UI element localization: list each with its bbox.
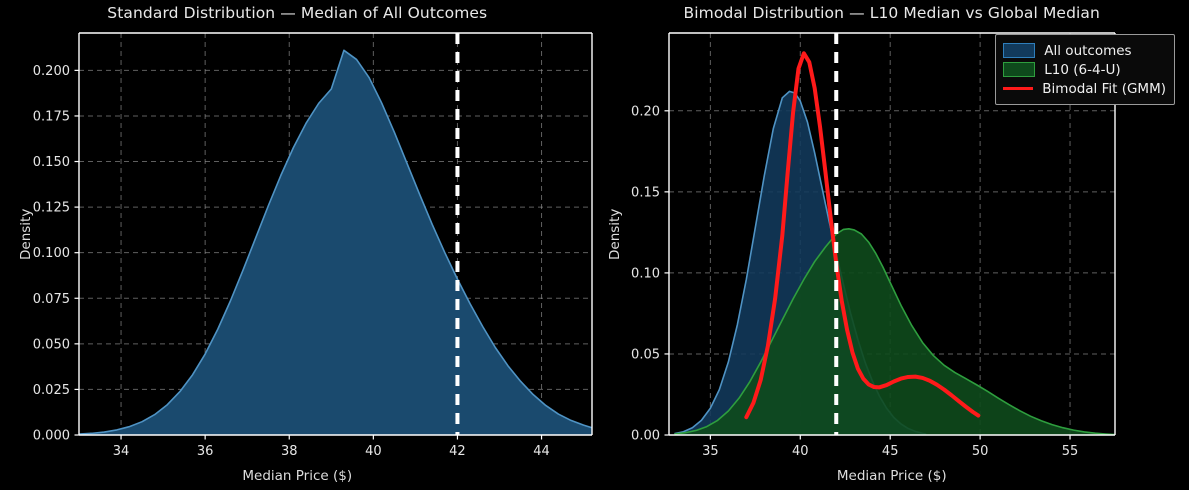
figure-canvas: Standard Distribution — Median of All Ou… <box>0 0 1189 490</box>
legend-item-all-outcomes[interactable]: All outcomes <box>1003 41 1166 60</box>
x-tick-label: 40 <box>365 444 382 459</box>
y-tick-label: 0.150 <box>33 155 70 170</box>
x-tick-label: 42 <box>449 444 466 459</box>
y-tick-label: 0.025 <box>33 383 70 398</box>
y-tick-label: 0.075 <box>33 292 70 307</box>
y-tick-label: 0.100 <box>33 246 70 261</box>
legend-label: Bimodal Fit (GMM) <box>1042 81 1166 97</box>
legend-label: All outcomes <box>1044 43 1131 59</box>
x-tick-label: 40 <box>792 444 809 459</box>
legend-line-icon <box>1003 87 1033 90</box>
legend-swatch-icon <box>1003 62 1035 77</box>
y-tick-label: 0.20 <box>631 104 660 119</box>
y-axis-label-left: Density <box>18 208 34 259</box>
legend-item-bimodal-fit-gmm[interactable]: Bimodal Fit (GMM) <box>1003 79 1166 98</box>
x-axis-label-right: Median Price ($) <box>595 468 1189 484</box>
x-tick-label: 34 <box>113 444 130 459</box>
y-tick-label: 0.175 <box>33 109 70 124</box>
panel-left: Standard Distribution — Median of All Ou… <box>0 0 595 490</box>
x-tick-label: 36 <box>197 444 214 459</box>
x-tick-label: 45 <box>881 444 898 459</box>
y-tick-label: 0.050 <box>33 337 70 352</box>
x-tick-label: 35 <box>702 444 719 459</box>
legend[interactable]: All outcomesL10 (6-4-U)Bimodal Fit (GMM) <box>995 34 1175 105</box>
plot-area-left: 3436384042440.0000.0250.0500.0750.1000.1… <box>0 0 595 490</box>
panel-right: Bimodal Distribution — L10 Median vs Glo… <box>595 0 1189 490</box>
y-tick-label: 0.05 <box>631 347 660 362</box>
x-tick-label: 38 <box>281 444 298 459</box>
y-tick-label: 0.10 <box>631 266 660 281</box>
y-tick-label: 0.00 <box>631 429 660 444</box>
x-axis-label-left: Median Price ($) <box>0 468 595 484</box>
legend-swatch-icon <box>1003 43 1035 58</box>
legend-item-l10-6-4-u[interactable]: L10 (6-4-U) <box>1003 60 1166 79</box>
y-tick-label: 0.125 <box>33 201 70 216</box>
x-tick-label: 50 <box>971 444 988 459</box>
y-axis-label-right: Density <box>607 208 623 259</box>
x-tick-label: 55 <box>1061 444 1078 459</box>
legend-label: L10 (6-4-U) <box>1044 62 1120 78</box>
x-tick-label: 44 <box>533 444 550 459</box>
y-tick-label: 0.000 <box>33 429 70 444</box>
y-tick-label: 0.15 <box>631 185 660 200</box>
y-tick-label: 0.200 <box>33 64 70 79</box>
